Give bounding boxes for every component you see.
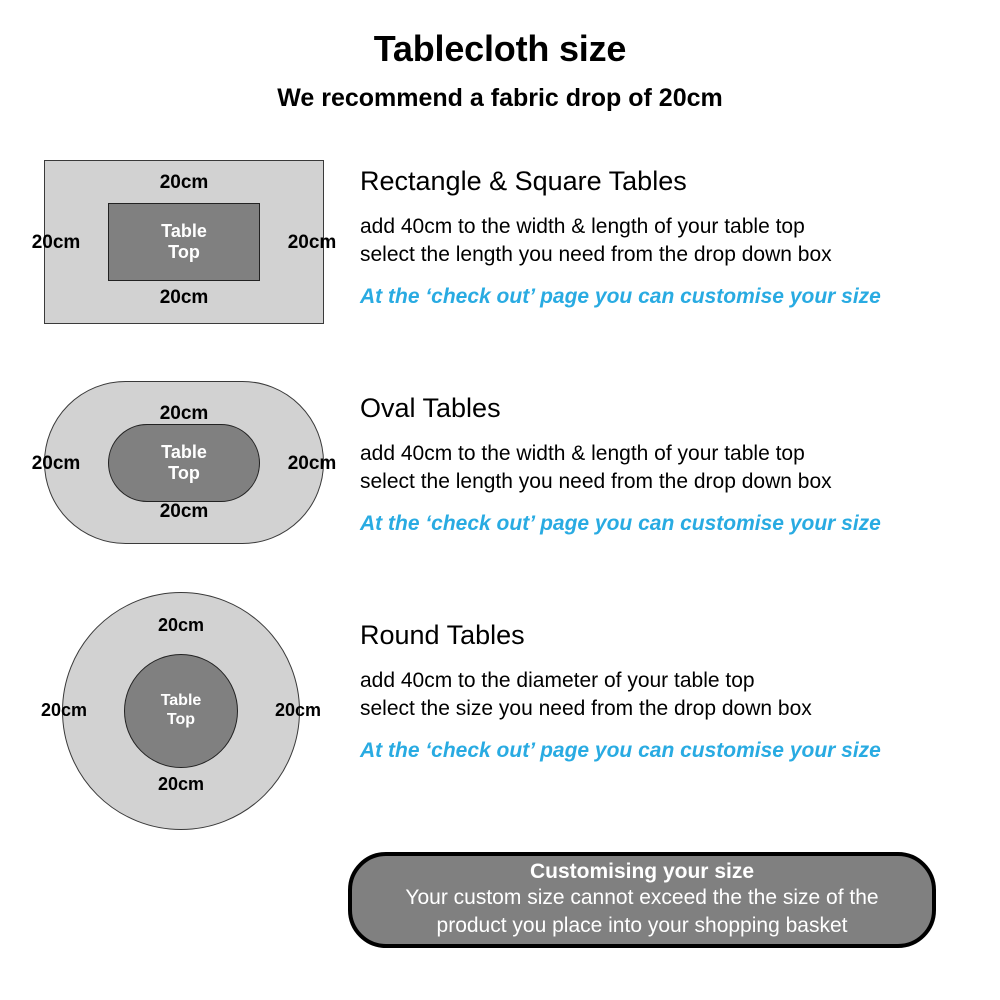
oval-drop-label-right: 20cm [262,453,362,475]
oval-customise-note: At the ‘check out’ page you can customis… [360,511,881,536]
page-subtitle: We recommend a fabric drop of 20cm [0,84,1000,113]
oval-drop-label-bottom: 20cm [44,501,324,523]
rectangle-table-top-line2: Top [168,242,200,263]
rectangle-drop-label-right: 20cm [262,232,362,254]
round-section-line-1: add 40cm to the diameter of your table t… [360,667,881,695]
rectangle-section-text: Rectangle & Square Tables add 40cm to th… [360,168,881,310]
rectangle-drop-label-top: 20cm [44,172,324,194]
round-section-text: Round Tables add 40cm to the diameter of… [360,622,881,764]
rectangle-section-line-1: add 40cm to the width & length of your t… [360,213,881,241]
round-table-diagram: 20cm 20cm 20cm 20cm Table Top [62,592,300,830]
round-section-heading: Round Tables [360,622,881,649]
round-customise-note: At the ‘check out’ page you can customis… [360,738,881,763]
rectangle-table-diagram: 20cm 20cm 20cm 20cm Table Top [44,160,324,324]
oval-table-top: Table Top [108,424,260,502]
oval-section-text: Oval Tables add 40cm to the width & leng… [360,395,881,537]
round-section-line-2: select the size you need from the drop d… [360,695,881,723]
callout-line-2: product you place into your shopping bas… [437,912,848,940]
round-drop-label-left: 20cm [14,700,114,721]
customising-your-size-callout: Customising your size Your custom size c… [348,852,936,948]
rectangle-table-top-line1: Table [161,221,207,242]
oval-section-heading: Oval Tables [360,395,881,422]
round-drop-label-top: 20cm [62,615,300,636]
oval-table-top-line1: Table [161,442,207,463]
rectangle-customise-note: At the ‘check out’ page you can customis… [360,284,881,309]
rectangle-section-heading: Rectangle & Square Tables [360,168,881,195]
oval-section-line-1: add 40cm to the width & length of your t… [360,440,881,468]
page-title: Tablecloth size [0,28,1000,70]
oval-table-top-line2: Top [168,463,200,484]
round-drop-label-bottom: 20cm [62,774,300,795]
oval-section-line-2: select the length you need from the drop… [360,468,881,496]
oval-table-diagram: 20cm 20cm 20cm 20cm Table Top [44,381,324,544]
rectangle-table-top: Table Top [108,203,260,281]
oval-drop-label-left: 20cm [6,453,106,475]
callout-line-1: Your custom size cannot exceed the the s… [405,884,878,912]
rectangle-section-line-2: select the length you need from the drop… [360,241,881,269]
round-table-top-line2: Top [167,711,195,730]
rectangle-drop-label-left: 20cm [6,232,106,254]
round-table-top: Table Top [124,654,238,768]
rectangle-drop-label-bottom: 20cm [44,287,324,309]
callout-title: Customising your size [530,860,754,884]
round-drop-label-right: 20cm [248,700,348,721]
oval-drop-label-top: 20cm [44,403,324,425]
round-table-top-line1: Table [161,692,202,711]
